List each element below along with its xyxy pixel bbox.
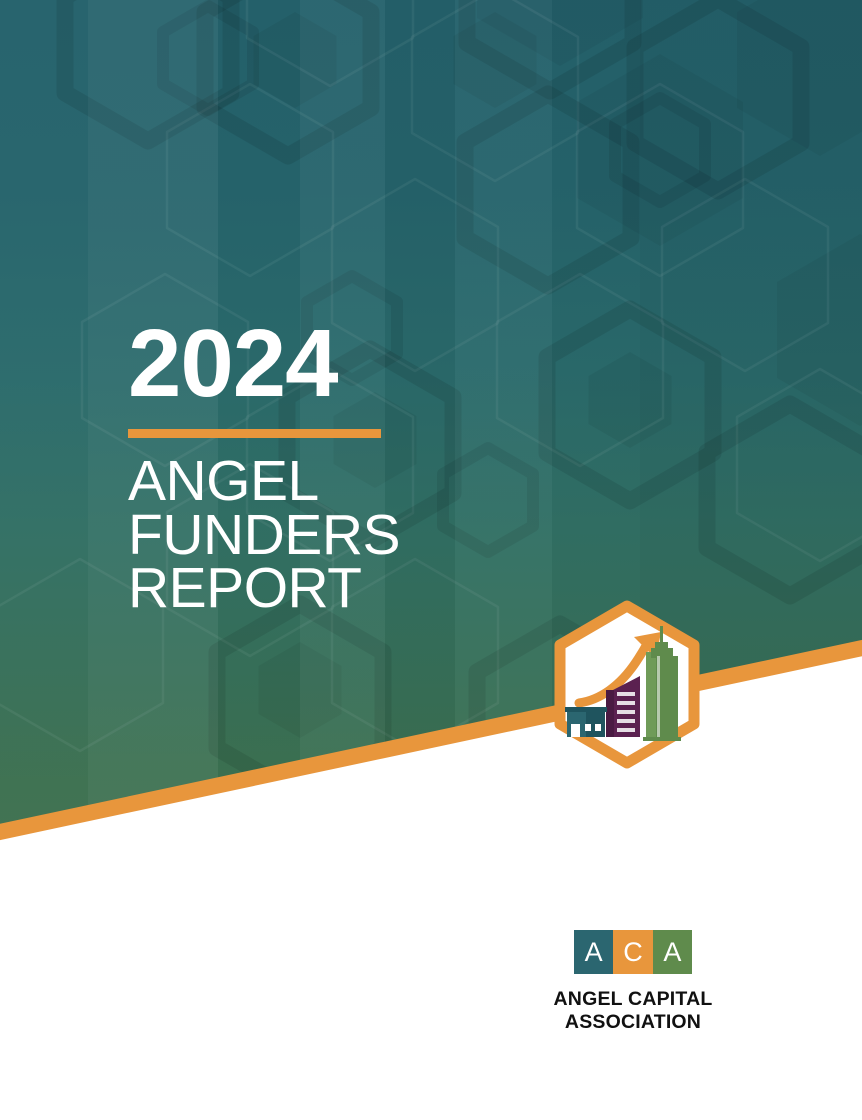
aca-logo: A C A ANGEL CAPITAL ASSOCIATION (485, 930, 781, 1034)
small-teal-building (565, 707, 607, 737)
title-line-2: FUNDERS (128, 509, 548, 563)
organization-name: ANGEL CAPITAL ASSOCIATION (485, 988, 781, 1034)
report-cover: 2024 ANGEL FUNDERS REPORT (0, 0, 862, 1120)
growth-buildings-hex-badge (542, 600, 712, 785)
aca-letter-a2: A (653, 930, 692, 974)
title-line-1: ANGEL (128, 455, 548, 509)
report-year: 2024 (128, 316, 548, 412)
cover-title-block: 2024 ANGEL FUNDERS REPORT (128, 316, 548, 616)
aca-letter-c: C (613, 930, 652, 974)
title-line-3: REPORT (128, 562, 548, 616)
aca-letter-marks: A C A (574, 930, 692, 974)
report-title: ANGEL FUNDERS REPORT (128, 455, 548, 616)
aca-letter-a1: A (574, 930, 613, 974)
year-underline-rule (128, 429, 381, 438)
